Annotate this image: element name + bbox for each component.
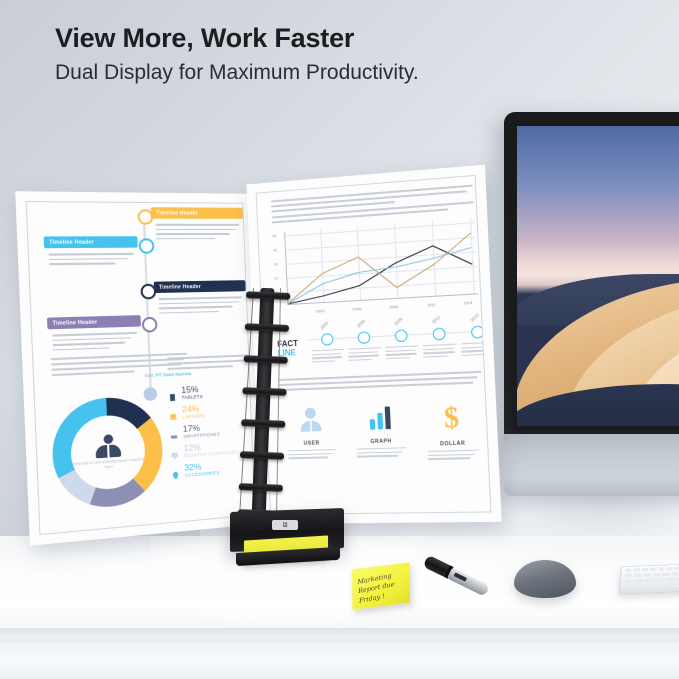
dollar-icon: $	[437, 401, 466, 433]
holder-clip[interactable]	[240, 451, 284, 460]
x-tick-2014: 2014	[463, 301, 472, 306]
donut-caption: Detected no one probably haven't heard o…	[71, 457, 145, 474]
laptop-icon	[169, 408, 177, 417]
fact-item: 2015	[460, 318, 492, 359]
holder-spine	[252, 288, 275, 520]
fact-text	[348, 347, 381, 361]
scene: Timeline Header Timeline Header Timeline…	[0, 0, 679, 679]
fact-dot-icon	[432, 327, 445, 340]
fact-dot-icon	[471, 326, 485, 339]
document-holder: ◫	[228, 288, 348, 568]
timeline-card-2: Timeline Header	[151, 207, 243, 219]
holder-brand-logo: ◫	[272, 520, 298, 530]
left-page-content: Timeline Header Timeline Header Timeline…	[26, 201, 256, 535]
tablet-icon	[168, 388, 176, 397]
font-credit-prefix: font:	[145, 373, 154, 379]
bar-chart-icon	[366, 403, 394, 431]
timeline-card-3-text	[52, 332, 138, 354]
fact-year: 2009	[393, 316, 404, 326]
icon-card-label: GRAPH	[350, 438, 412, 446]
fact-item: 2012	[422, 320, 458, 361]
smartphone-icon	[170, 427, 178, 436]
x-tick-2008: 2008	[389, 305, 398, 310]
brand-glyph: ◫	[283, 522, 287, 528]
icon-card-text	[421, 449, 485, 460]
fact-item: 2006	[347, 324, 382, 364]
page-title: View More, Work Faster	[55, 24, 419, 52]
holder-clip[interactable]	[239, 483, 283, 492]
holder-clip[interactable]	[241, 419, 285, 428]
sticky-note[interactable]: Marketing Report due Friday !	[352, 562, 410, 609]
timeline-card-2-label: Timeline Header	[151, 210, 198, 216]
fact-text	[461, 342, 492, 357]
holder-clip[interactable]	[244, 355, 288, 364]
accessories-icon	[171, 466, 179, 475]
holder-wire-right	[276, 288, 281, 518]
person-icon	[94, 433, 122, 458]
donut-chart: Detected no one probably haven't heard o…	[50, 395, 164, 511]
icon-card-dollar: $ DOLLAR	[419, 400, 486, 462]
page-subtitle: Dual Display for Maximum Productivity.	[55, 61, 419, 84]
timeline-card-4-label: Timeline Header	[154, 283, 201, 290]
timeline-card-1-text	[49, 253, 135, 268]
desktop-icon	[170, 446, 178, 455]
holder-clip[interactable]	[242, 387, 286, 396]
fact-year: 2012	[431, 314, 442, 325]
fact-item: 2009	[384, 322, 419, 362]
svg-text:$: $	[443, 402, 460, 433]
icon-card-graph: GRAPH	[349, 403, 414, 460]
x-tick-2011: 2011	[427, 303, 436, 308]
timeline-card-1: Timeline Header	[44, 236, 138, 248]
timeline-node-2	[138, 238, 154, 254]
icon-card-label: DOLLAR	[421, 440, 485, 448]
x-tick-2006: 2006	[352, 307, 361, 312]
sticky-note-text: Marketing Report due Friday !	[357, 571, 396, 606]
fact-text	[423, 344, 458, 358]
monitor-screen	[517, 126, 679, 426]
left-document-page: Timeline Header Timeline Header Timeline…	[15, 191, 264, 545]
timeline-card-3: Timeline Header	[47, 315, 141, 329]
desk-front-panel	[0, 642, 679, 679]
fact-dot-icon	[357, 331, 370, 344]
timeline-node-4	[142, 317, 158, 333]
fact-year: 2015	[469, 312, 480, 323]
fact-dot-icon	[395, 329, 408, 342]
fact-year: 2006	[356, 318, 366, 328]
monitor-chin	[504, 434, 679, 496]
computer-monitor	[504, 112, 679, 442]
fact-text	[385, 345, 419, 359]
timeline-card-1-label: Timeline Header	[44, 239, 95, 246]
headline-block: View More, Work Faster Dual Display for …	[55, 24, 419, 84]
keyboard[interactable]	[619, 563, 679, 594]
timeline-card-2-text	[155, 224, 240, 243]
timeline-card-3-label: Timeline Header	[47, 319, 97, 327]
icon-card-text	[351, 447, 414, 457]
